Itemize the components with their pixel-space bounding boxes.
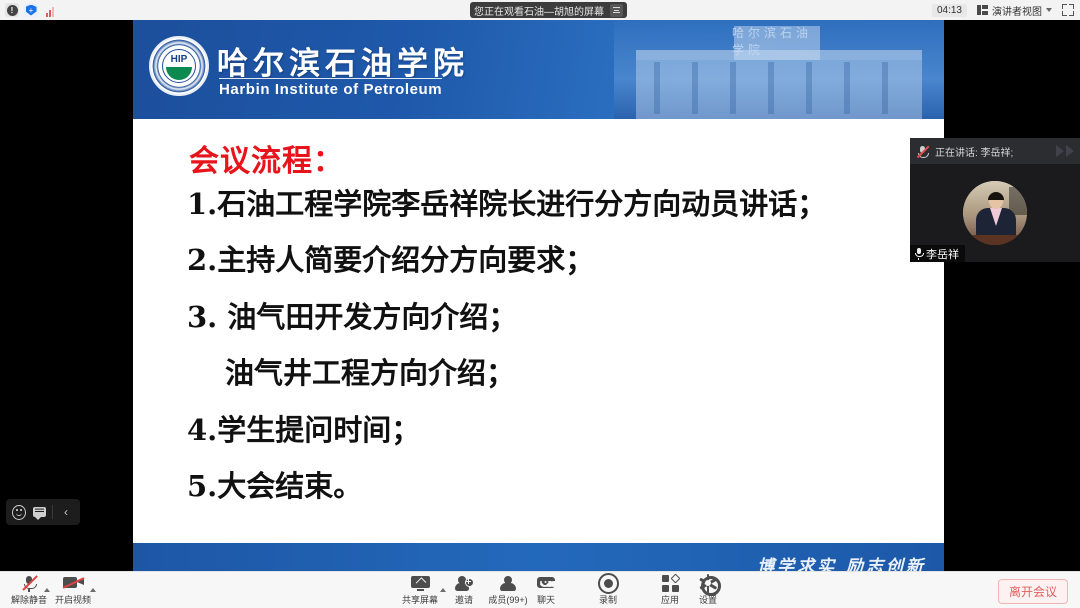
more-options-icon[interactable] (610, 4, 623, 17)
chat-label: 聊天 (537, 593, 555, 606)
record-label: 录制 (599, 593, 617, 606)
view-mode-selector[interactable]: 演讲者视图 (977, 3, 1052, 18)
top-bar: ! + 您正在观看石油—胡旭的屏幕 04:13 演讲者视图 (0, 0, 1080, 20)
chat-icon (537, 575, 555, 592)
slide-header-banner: 哈尔滨石油学院 HIP (133, 20, 944, 119)
share-screen-icon (411, 575, 430, 592)
network-signal-icon[interactable] (43, 3, 57, 17)
top-bar-left-icons: ! + (0, 3, 57, 17)
logo-text: HIP (163, 54, 195, 65)
double-chevron-right-icon[interactable] (1056, 145, 1074, 157)
leave-meeting-button[interactable]: 离开会议 (998, 579, 1068, 604)
university-logo: HIP (149, 36, 209, 96)
screen-share-notice: 您正在观看石油—胡旭的屏幕 (470, 2, 627, 18)
bottom-toolbar: 解除静音 开启视频 共享屏幕 邀请 (0, 571, 1080, 608)
participants-label: 成员(99+) (488, 593, 527, 606)
apps-icon (662, 575, 679, 592)
agenda-item-1: 1.石油工程学院李岳祥院长进行分方向动员讲话； (187, 181, 826, 223)
settings-button[interactable]: 设置 (686, 572, 730, 608)
avatar (963, 181, 1027, 245)
chat-button[interactable]: 聊天 (524, 572, 568, 608)
agenda-item-5: 5.大会结束。 (187, 463, 362, 505)
fullscreen-icon[interactable] (1062, 4, 1074, 16)
slide-footer-banner: 博学求实 励志创新 (133, 543, 944, 572)
agenda-item-3b: 油气井工程方向介绍； (225, 350, 515, 392)
chevron-down-icon[interactable] (1046, 8, 1052, 12)
shield-icon[interactable]: + (24, 3, 38, 17)
speaker-panel-header: 正在讲话: 李岳祥; (910, 138, 1080, 164)
participant-name-badge: 李岳祥 (910, 245, 965, 262)
agenda-item-2: 2.主持人简要介绍分方向要求； (187, 237, 594, 279)
chat-bubble-icon[interactable] (32, 505, 46, 519)
zoom-meeting-window: ! + 您正在观看石油—胡旭的屏幕 04:13 演讲者视图 哈尔滨石油 (0, 0, 1080, 608)
speaker-view-icon (977, 5, 988, 15)
record-button[interactable]: 录制 (586, 572, 630, 608)
agenda-item-3: 3. 油气田开发方向介绍； (187, 294, 517, 336)
camera-off-icon (63, 575, 84, 592)
smiley-icon[interactable] (12, 505, 26, 519)
floating-mini-toolbar: ‹ (6, 499, 80, 525)
mic-muted-icon (21, 575, 38, 592)
slide-content: 会议流程： 1.石油工程学院李岳祥院长进行分方向动员讲话； 2.主持人简要介绍分… (133, 119, 944, 543)
speaker-video-area[interactable]: 李岳祥 (910, 164, 1080, 262)
school-motto: 博学求实 励志创新 (757, 552, 926, 572)
shared-screen-stage: 哈尔滨石油学院 HIP (0, 20, 1080, 572)
video-options-caret[interactable] (86, 572, 100, 608)
gear-icon (700, 575, 717, 592)
agenda-item-4: 4.学生提问时间； (187, 407, 420, 449)
participant-name: 李岳祥 (926, 246, 959, 262)
school-name-cn: 哈尔滨石油学院 (217, 38, 469, 83)
slide-title: 会议流程： (189, 136, 344, 180)
campus-building-photo: 哈尔滨石油学院 (614, 20, 944, 119)
share-screen-label: 共享屏幕 (402, 593, 438, 606)
top-bar-right: 04:13 演讲者视图 (932, 0, 1074, 20)
chevron-up-icon (90, 588, 96, 592)
speaker-video-panel[interactable]: 正在讲话: 李岳祥; 李岳祥 (910, 138, 1080, 262)
invite-user-icon (455, 575, 474, 592)
view-mode-label: 演讲者视图 (992, 3, 1042, 18)
screen-share-notice-text: 您正在观看石油—胡旭的屏幕 (474, 3, 604, 18)
record-icon (598, 575, 619, 592)
shared-slide: 哈尔滨石油学院 HIP (133, 20, 944, 572)
divider (52, 505, 53, 519)
participants-icon (500, 575, 517, 592)
invite-label: 邀请 (455, 593, 473, 606)
mic-icon (914, 248, 923, 260)
apps-label: 应用 (661, 593, 679, 606)
speaking-label: 正在讲话: 李岳祥; (935, 144, 1013, 159)
chevron-left-icon[interactable]: ‹ (59, 505, 73, 519)
school-name-en: Harbin Institute of Petroleum (219, 78, 442, 98)
mic-muted-icon (916, 145, 929, 158)
meeting-timer: 04:13 (932, 4, 967, 17)
info-circle-icon[interactable]: ! (5, 3, 19, 17)
